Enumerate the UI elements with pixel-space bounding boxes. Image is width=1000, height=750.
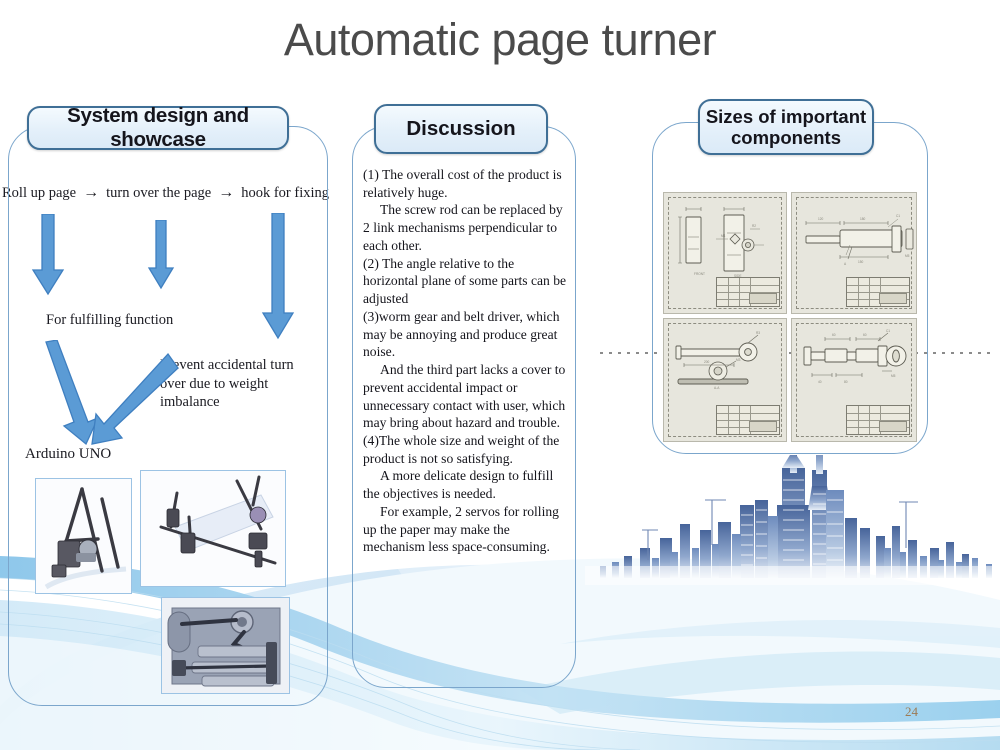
svg-text:M4: M4 bbox=[721, 234, 726, 238]
cad-title-block-4 bbox=[846, 405, 910, 435]
panel-header-system-design[interactable]: System design and showcase bbox=[27, 106, 289, 150]
svg-text:M5: M5 bbox=[905, 254, 910, 258]
svg-text:R3: R3 bbox=[756, 331, 760, 335]
svg-text:150: 150 bbox=[858, 260, 864, 264]
cad-drawing-screw-rod[interactable]: 200R3 M3A-A bbox=[663, 318, 787, 442]
panel-header-system-design-label: System design and showcase bbox=[29, 104, 287, 152]
svg-text:A: A bbox=[844, 262, 847, 266]
panel-header-discussion-label: Discussion bbox=[406, 117, 515, 141]
svg-text:80: 80 bbox=[844, 380, 848, 384]
slide-number: 24 bbox=[905, 704, 918, 720]
svg-text:120: 120 bbox=[818, 217, 824, 221]
svg-text:R2: R2 bbox=[752, 224, 756, 228]
cad-title-block-1 bbox=[716, 277, 780, 307]
down-arrow-hook-icon bbox=[260, 213, 296, 340]
discussion-paragraph: (2) The angle relative to the horizontal… bbox=[363, 255, 569, 308]
photo-cad-render-full-assembly[interactable] bbox=[140, 470, 286, 587]
svg-text:FRONT: FRONT bbox=[694, 272, 705, 276]
svg-text:200: 200 bbox=[704, 360, 710, 364]
svg-text:C1: C1 bbox=[896, 214, 900, 218]
page-title: Automatic page turner bbox=[284, 14, 716, 65]
svg-text:M3: M3 bbox=[736, 358, 741, 362]
svg-text:M5: M5 bbox=[891, 374, 896, 378]
down-arrow-roll-up-icon bbox=[30, 214, 66, 296]
discussion-paragraph: (3)worm gear and belt driver, which may … bbox=[363, 308, 569, 361]
svg-text:A-A: A-A bbox=[714, 386, 720, 390]
photo-cad-render-linkage-front[interactable] bbox=[35, 478, 132, 594]
cad-drawing-bracket[interactable]: FRONTR2 M4SIDE bbox=[663, 192, 787, 314]
discussion-paragraph: And the third part lacks a cover to prev… bbox=[363, 361, 569, 432]
photo-cad-render-mechanism-side[interactable] bbox=[161, 597, 290, 694]
svg-text:180: 180 bbox=[860, 217, 866, 221]
svg-text:60: 60 bbox=[863, 333, 867, 337]
discussion-paragraph: The screw rod can be replaced by 2 link … bbox=[363, 201, 569, 254]
diagonal-arrow-from-prevent-icon bbox=[70, 352, 180, 460]
slide-title-wrap: Automatic page turner bbox=[0, 14, 1000, 66]
svg-text:C1: C1 bbox=[886, 329, 890, 333]
svg-text:60: 60 bbox=[832, 333, 836, 337]
down-arrow-turn-over-icon bbox=[146, 220, 176, 290]
panel-header-sizes[interactable]: Sizes of important components bbox=[698, 99, 874, 155]
panel-header-sizes-label: Sizes of important components bbox=[700, 106, 872, 148]
svg-text:40: 40 bbox=[818, 380, 822, 384]
discussion-text-body: (1) The overall cost of the product is r… bbox=[363, 166, 569, 556]
discussion-paragraph: A more delicate design to fulfill the ob… bbox=[363, 467, 569, 502]
panel-header-discussion[interactable]: Discussion bbox=[374, 104, 548, 154]
cad-title-block-3 bbox=[716, 405, 780, 435]
cad-title-block-2 bbox=[846, 277, 910, 307]
cad-drawing-grid: FRONTR2 M4SIDE bbox=[663, 192, 915, 442]
discussion-paragraph: (4)The whole size and weight of the prod… bbox=[363, 432, 569, 467]
cad-drawing-spindle[interactable]: 6060 4080 C1M5 bbox=[791, 318, 917, 442]
discussion-paragraph: For example, 2 servos for rolling up the… bbox=[363, 503, 569, 556]
discussion-paragraph: (1) The overall cost of the product is r… bbox=[363, 166, 569, 201]
cad-drawing-long-shaft[interactable]: 120180 150C1 M5A bbox=[791, 192, 917, 314]
